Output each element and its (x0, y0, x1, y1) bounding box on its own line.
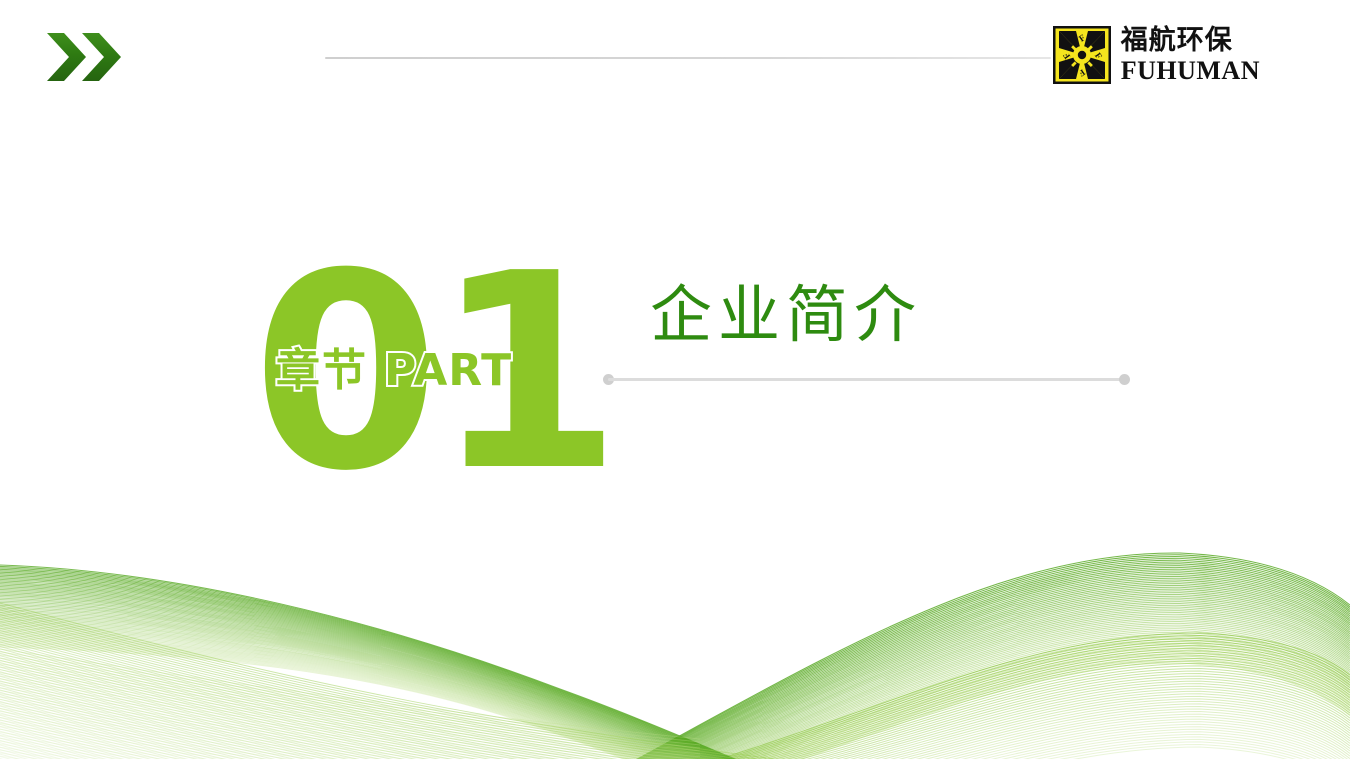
divider-dot-right (1119, 374, 1130, 385)
divider-line (608, 378, 1125, 381)
page-title: 企业简介 (650, 281, 922, 349)
double-chevron-right-icon (46, 31, 122, 83)
green-flowing-wave-lines (0, 529, 1350, 759)
company-logo: F F F F 福航环保 FUHUMAN (1053, 26, 1260, 84)
logo-name-en: FUHUMAN (1121, 58, 1260, 84)
section-part-label-cn: 章节 (276, 345, 368, 396)
logo-wordmark: 福航环保 FUHUMAN (1121, 27, 1260, 84)
logo-name-cn: 福航环保 (1121, 27, 1260, 56)
section-part-label-en: PART (384, 345, 512, 396)
title-divider (603, 374, 1130, 385)
header-divider-line (325, 57, 1051, 59)
section-part-label: 章节PART (276, 349, 512, 393)
slide-canvas: F F F F 福航环保 FUHUMAN 01 章节PART 企业简介 (0, 0, 1350, 759)
fuhuman-pinwheel-logo-icon: F F F F (1053, 26, 1111, 84)
